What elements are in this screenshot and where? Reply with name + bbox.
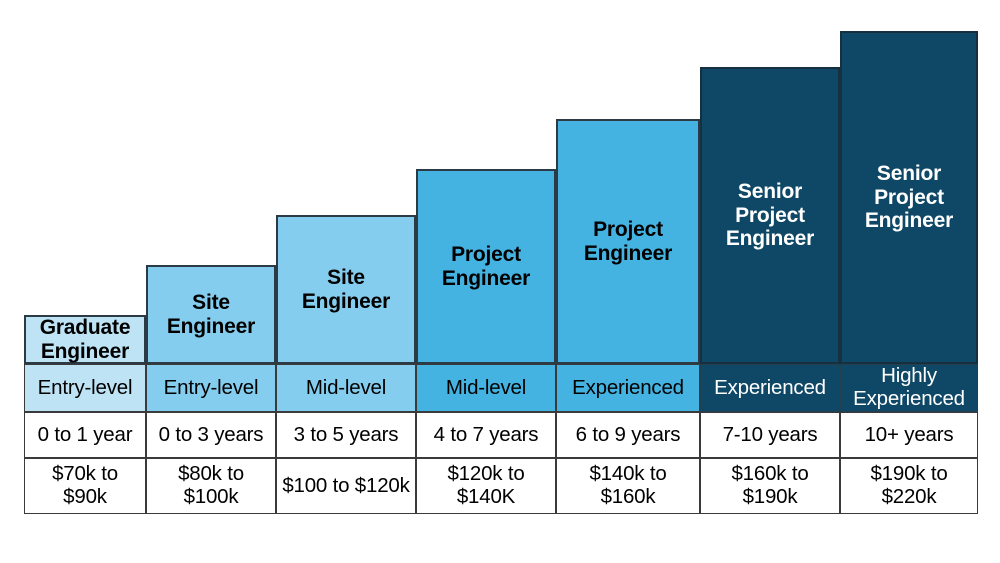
cell-experience-1: 0 to 1 year (24, 412, 146, 458)
cell-experience-label-4: 4 to 7 years (431, 424, 542, 447)
cell-experience-label-6: 7-10 years (720, 424, 821, 447)
cell-level-label-5: Experienced (569, 377, 687, 400)
bar-role-label-7: Senior Project Engineer (842, 162, 976, 234)
bar-role-1: Graduate Engineer (24, 315, 146, 364)
cell-experience-label-2: 0 to 3 years (156, 424, 267, 447)
bar-role-5: Project Engineer (556, 119, 700, 364)
cell-experience-7: 10+ years (840, 412, 978, 458)
cell-salary-1: $70k to $90k (24, 458, 146, 514)
cell-level-label-1: Entry-level (35, 377, 136, 400)
cell-salary-label-2: $80k to $100k (147, 463, 275, 509)
cell-experience-label-1: 0 to 1 year (35, 424, 136, 447)
cell-level-4: Mid-level (416, 364, 556, 412)
bar-role-label-2: Site Engineer (148, 291, 274, 339)
cell-experience-label-5: 6 to 9 years (573, 424, 684, 447)
cell-salary-label-7: $190k to $220k (841, 463, 977, 509)
bar-role-6: Senior Project Engineer (700, 67, 840, 364)
cell-salary-label-3: $100 to $120k (279, 475, 412, 498)
cell-experience-label-7: 10+ years (862, 424, 957, 447)
cell-salary-5: $140k to $160k (556, 458, 700, 514)
cell-salary-7: $190k to $220k (840, 458, 978, 514)
cell-salary-4: $120k to $140K (416, 458, 556, 514)
bar-role-7: Senior Project Engineer (840, 31, 978, 364)
cell-salary-label-4: $120k to $140K (417, 463, 555, 509)
cell-experience-4: 4 to 7 years (416, 412, 556, 458)
cell-experience-2: 0 to 3 years (146, 412, 276, 458)
bar-role-4: Project Engineer (416, 169, 556, 364)
cell-salary-label-5: $140k to $160k (557, 463, 699, 509)
cell-level-label-2: Entry-level (161, 377, 262, 400)
bar-role-label-1: Graduate Engineer (26, 316, 144, 364)
cell-level-6: Experienced (700, 364, 840, 412)
cell-level-5: Experienced (556, 364, 700, 412)
cell-experience-5: 6 to 9 years (556, 412, 700, 458)
cell-level-7: Highly Experienced (840, 364, 978, 412)
bar-role-label-3: Site Engineer (278, 266, 414, 314)
cell-level-label-4: Mid-level (443, 377, 529, 400)
cell-experience-label-3: 3 to 5 years (291, 424, 402, 447)
cell-salary-6: $160k to $190k (700, 458, 840, 514)
cell-level-label-6: Experienced (711, 377, 829, 400)
cell-level-label-3: Mid-level (303, 377, 389, 400)
bar-role-label-5: Project Engineer (558, 218, 698, 266)
cell-experience-3: 3 to 5 years (276, 412, 416, 458)
bar-role-label-4: Project Engineer (418, 243, 554, 291)
bar-role-3: Site Engineer (276, 215, 416, 364)
bar-role-label-6: Senior Project Engineer (702, 180, 838, 252)
cell-level-3: Mid-level (276, 364, 416, 412)
career-progression-chart: Graduate EngineerEntry-level0 to 1 year$… (0, 0, 1000, 563)
cell-salary-label-1: $70k to $90k (25, 463, 145, 509)
cell-level-label-7: Highly Experienced (841, 365, 977, 411)
cell-level-2: Entry-level (146, 364, 276, 412)
cell-salary-2: $80k to $100k (146, 458, 276, 514)
cell-salary-label-6: $160k to $190k (701, 463, 839, 509)
cell-experience-6: 7-10 years (700, 412, 840, 458)
bar-role-2: Site Engineer (146, 265, 276, 364)
cell-level-1: Entry-level (24, 364, 146, 412)
cell-salary-3: $100 to $120k (276, 458, 416, 514)
